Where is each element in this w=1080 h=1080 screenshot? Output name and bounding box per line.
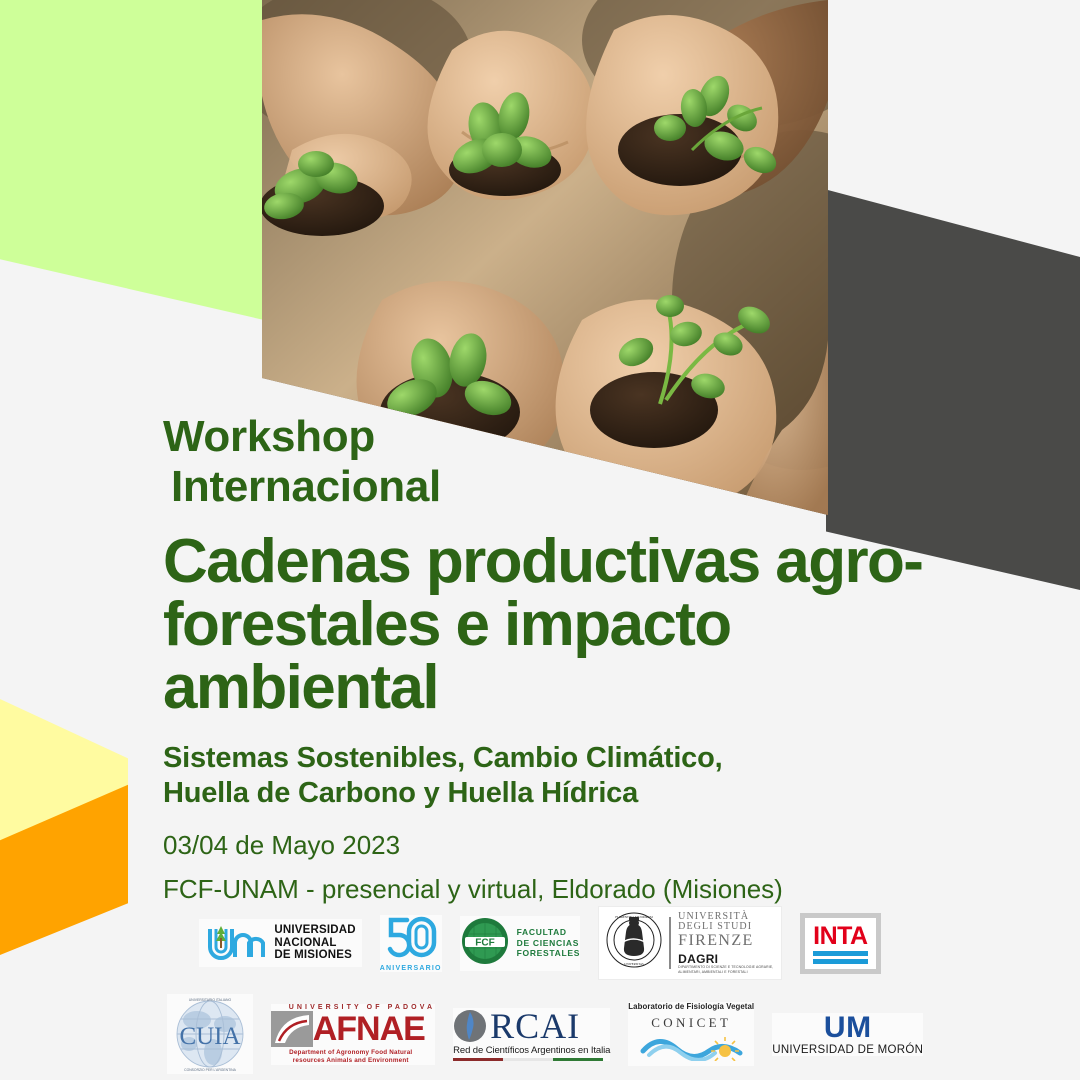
firenze-seal-icon: FLORENTINA STUDIORUM UNIVERSITAS <box>606 912 662 973</box>
rcai-flag-green <box>553 1058 603 1061</box>
svg-text:UNIVERSITARIO ITALIANO: UNIVERSITARIO ITALIANO <box>189 998 232 1002</box>
kicker-line-2: Internacional <box>163 462 1013 512</box>
unam-line-1: UNIVERSIDAD <box>274 924 355 937</box>
fcf-seal-icon: FCF <box>460 916 510 971</box>
svg-text:FCF: FCF <box>475 937 494 948</box>
headline-line-1: Cadenas productivas agro- <box>163 530 1013 593</box>
event-headline: Cadenas productivas agro- forestales e i… <box>163 530 1013 719</box>
firenze-line-3: FIRENZE <box>678 933 774 950</box>
fcf-line-2: DE CIENCIAS <box>517 938 581 949</box>
fcf-line-1: FACULTAD <box>517 927 581 938</box>
logo-afnae: UNIVERSITY OF PADOVA AFNAE Department of… <box>271 1004 435 1065</box>
poster-canvas: Workshop Internacional Cadenas productiv… <box>0 0 1080 1080</box>
inta-bar-top <box>813 951 867 956</box>
sponsor-logo-row-1: UNIVERSIDAD NACIONAL DE MISIONES ANIVERS… <box>0 900 1080 986</box>
logo-um-moron: UM UNIVERSIDAD DE MORÓN <box>772 1013 923 1056</box>
inta-plate: INTA <box>805 918 875 969</box>
firenze-department-code: DAGRI <box>678 953 774 966</box>
fcf-line-3: FORESTALES <box>517 948 581 959</box>
green-accent-shape <box>0 0 264 320</box>
um-wordmark: UM <box>824 1013 872 1043</box>
sponsor-logo-row-2: CUIA UNIVERSITARIO ITALIANO CONSORZIO PE… <box>0 990 1080 1078</box>
logo-unam: UNIVERSIDAD NACIONAL DE MISIONES <box>199 919 361 967</box>
cuia-globe-icon: CUIA UNIVERSITARIO ITALIANO CONSORZIO PE… <box>167 994 253 1074</box>
afnae-wordmark: AFNAE <box>313 1012 425 1046</box>
svg-text:FLORENTINA STUDIORUM: FLORENTINA STUDIORUM <box>616 915 654 919</box>
kicker-line-1: Workshop <box>163 412 375 461</box>
subhead-line-2: Huella de Carbono y Huella Hídrica <box>163 776 1013 811</box>
rcai-flag-rule <box>453 1058 603 1061</box>
fifty-numeral-icon <box>385 915 437 964</box>
rcai-globe-icon <box>453 1009 487 1043</box>
event-date: 03/04 de Mayo 2023 <box>163 829 1013 861</box>
afnae-emblem-icon <box>271 1011 313 1047</box>
rcai-tagline: Red de Científicos Argentinos en Italia <box>453 1045 610 1056</box>
afnae-department: Department of Agronomy Food Natural reso… <box>271 1049 431 1065</box>
unam-line-3: DE MISIONES <box>274 949 355 962</box>
rcai-flag-red <box>453 1058 503 1061</box>
logo-universita-firenze: FLORENTINA STUDIORUM UNIVERSITAS UNIVERS… <box>598 906 782 980</box>
fcf-wordmark: FACULTAD DE CIENCIAS FORESTALES <box>517 927 581 959</box>
logo-rcai: RCAI Red de Científicos Argentinos en It… <box>453 1008 610 1061</box>
firenze-department-full: DIPARTIMENTO DI SCIENZE E TECNOLOGIE AGR… <box>678 965 774 974</box>
conicet-lab-caption: Laboratorio de Fisiología Vegetal <box>628 1002 754 1011</box>
sponsor-logo-strip: UNIVERSIDAD NACIONAL DE MISIONES ANIVERS… <box>0 900 1080 1078</box>
event-subheadline: Sistemas Sostenibles, Cambio Climático, … <box>163 741 1013 811</box>
logo-fcf: FCF FACULTAD DE CIENCIAS FORESTALES <box>460 916 581 971</box>
rcai-mark-row: RCAI <box>453 1008 580 1044</box>
fifty-caption: ANIVERSARIO <box>380 965 442 972</box>
headline-line-3: ambiental <box>163 656 1013 719</box>
afnae-mark-row: AFNAE <box>271 1011 425 1047</box>
svg-text:UNIVERSITAS: UNIVERSITAS <box>624 962 644 966</box>
firenze-wordmark: UNIVERSITÀ DEGLI STUDI FIRENZE DAGRI DIP… <box>678 912 774 974</box>
subhead-line-1: Sistemas Sostenibles, Cambio Climático, <box>163 741 1013 776</box>
logo-conicet: Laboratorio de Fisiología Vegetal CONICE… <box>628 1002 754 1066</box>
rcai-wordmark: RCAI <box>490 1008 580 1044</box>
poster-text-block: Workshop Internacional Cadenas productiv… <box>163 412 1013 905</box>
logo-inta: INTA <box>800 913 880 974</box>
unam-monogram-icon <box>205 923 265 963</box>
firenze-divider <box>669 917 671 969</box>
unam-wordmark: UNIVERSIDAD NACIONAL DE MISIONES <box>274 924 355 962</box>
logo-cuia: CUIA UNIVERSITARIO ITALIANO CONSORZIO PE… <box>167 994 253 1074</box>
um-tagline: UNIVERSIDAD DE MORÓN <box>772 1044 923 1056</box>
logo-50-aniversario: ANIVERSARIO <box>380 915 442 972</box>
event-kicker: Workshop Internacional <box>163 412 1013 512</box>
inta-bar-bottom <box>813 959 867 964</box>
svg-text:CONSORZIO PER L'ARGENTINA: CONSORZIO PER L'ARGENTINA <box>184 1068 236 1072</box>
afnae-sub-1: Department of Agronomy Food Natural <box>271 1049 431 1057</box>
svg-text:CUIA: CUIA <box>179 1023 240 1050</box>
conicet-ribbon-icon <box>639 1031 744 1066</box>
headline-line-2: forestales e impacto <box>163 593 1013 656</box>
afnae-sub-2: resources Animals and Environment <box>271 1057 431 1065</box>
inta-wordmark: INTA <box>813 923 867 949</box>
rcai-flag-white <box>503 1058 553 1061</box>
conicet-wordmark: CONICET <box>651 1015 731 1031</box>
unam-line-2: NACIONAL <box>274 937 355 950</box>
